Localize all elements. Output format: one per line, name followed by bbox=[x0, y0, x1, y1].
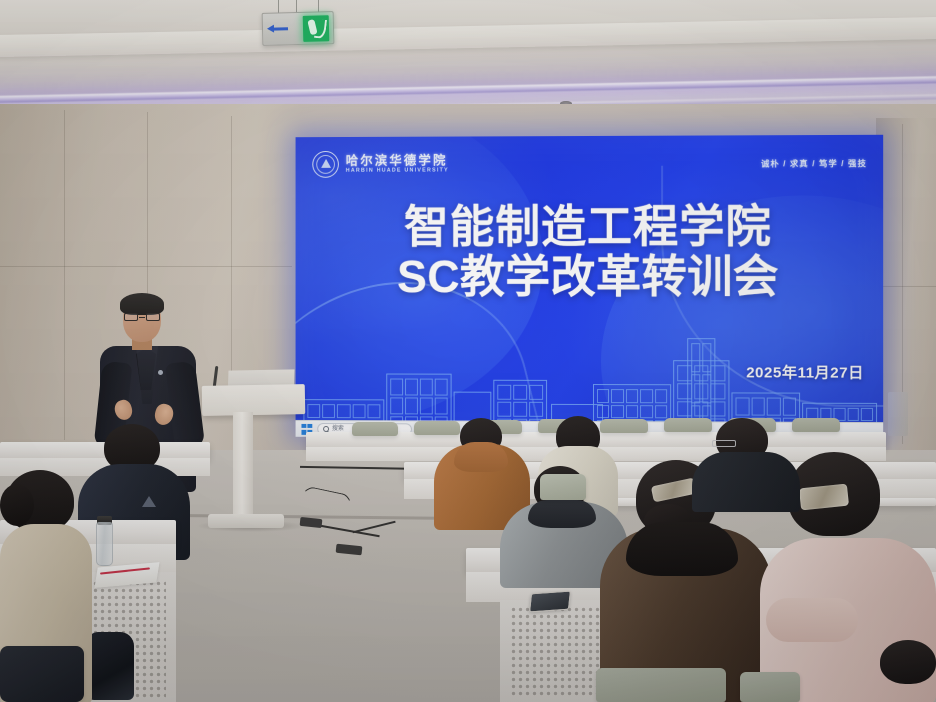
audience-collar bbox=[626, 522, 738, 576]
presenter-hair bbox=[120, 293, 164, 315]
slide-title-line1: 智能制造工程学院 bbox=[296, 203, 884, 250]
audience-sleeve bbox=[766, 598, 858, 642]
wall-panel-seam bbox=[231, 116, 232, 408]
audience-collar bbox=[528, 500, 596, 528]
list-item bbox=[692, 418, 800, 502]
chair[interactable] bbox=[352, 422, 398, 436]
lectern-base bbox=[208, 514, 284, 528]
institution-name-en: HARBIN HUADE UNIVERSITY bbox=[346, 168, 449, 174]
wall-panel-seam bbox=[876, 286, 936, 287]
lecture-hall-photo: 哈尔滨华德学院 HARBIN HUADE UNIVERSITY 诚朴 / 求真 … bbox=[0, 0, 936, 702]
glasses-icon bbox=[712, 440, 736, 447]
wall-speaker bbox=[888, 392, 908, 436]
presenter-lapel-badge bbox=[158, 370, 163, 375]
audience-hair-bun bbox=[0, 484, 34, 526]
slide-date: 2025年11月27日 bbox=[746, 361, 864, 382]
wall-panel-seam bbox=[0, 266, 292, 267]
backpack[interactable] bbox=[88, 632, 134, 700]
slide-title-block: 智能制造工程学院 SC教学改革转训会 bbox=[296, 203, 884, 300]
audience-hair bbox=[880, 640, 936, 684]
wall-panel-seam bbox=[64, 110, 65, 440]
chair[interactable] bbox=[740, 672, 800, 702]
jacket-logo-icon bbox=[142, 496, 156, 507]
emergency-exit-sign bbox=[262, 11, 335, 46]
running-man-exit-icon bbox=[303, 15, 330, 42]
lectern-top bbox=[202, 384, 306, 416]
audience-dark-jacket bbox=[692, 452, 800, 512]
institution-logo: 哈尔滨华德学院 HARBIN HUADE UNIVERSITY bbox=[312, 151, 449, 178]
glasses-icon bbox=[123, 313, 161, 321]
university-crest-icon bbox=[312, 151, 339, 178]
list-item bbox=[880, 640, 936, 702]
chair[interactable] bbox=[0, 646, 84, 702]
lectern-column bbox=[233, 412, 253, 518]
slide-title-line2: SC教学改革转训会 bbox=[296, 254, 884, 300]
chair[interactable] bbox=[540, 474, 586, 500]
arrow-left-icon bbox=[267, 23, 289, 36]
institution-name-cn: 哈尔滨华德学院 bbox=[346, 155, 449, 168]
school-motto: 诚朴 / 求真 / 笃学 / 强技 bbox=[761, 157, 867, 169]
presentation-led-screen[interactable]: 哈尔滨华德学院 HARBIN HUADE UNIVERSITY 诚朴 / 求真 … bbox=[296, 135, 884, 439]
water-bottle[interactable] bbox=[96, 522, 113, 566]
chair[interactable] bbox=[596, 668, 726, 702]
smartphone[interactable] bbox=[529, 591, 571, 613]
